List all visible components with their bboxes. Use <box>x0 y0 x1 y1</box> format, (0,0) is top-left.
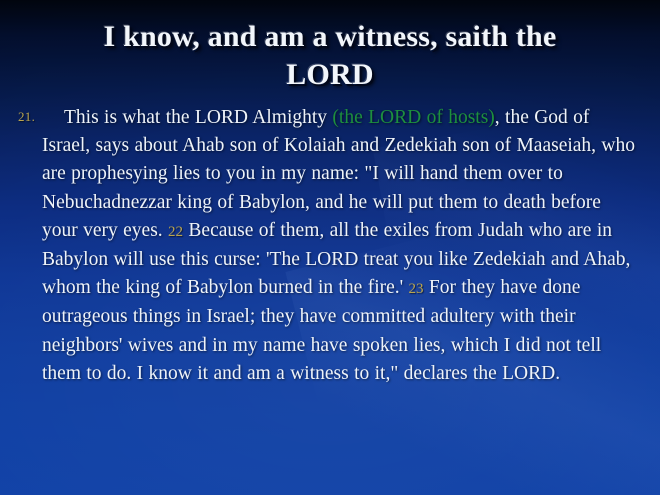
verse-bullet-row: 21. This is what the LORD Almighty (the … <box>18 104 642 388</box>
verse-number-inline-22: 22 <box>168 224 183 240</box>
slide-title: I know, and am a witness, saith the LORD <box>30 18 630 94</box>
verse-body-text: This is what the LORD Almighty (the LORD… <box>42 104 642 388</box>
slide-title-text: I know, and am a witness, saith the LORD <box>30 18 630 94</box>
slide-body: 21. This is what the LORD Almighty (the … <box>18 104 642 388</box>
verse-text-run-1: This is what the LORD Almighty <box>64 107 332 128</box>
verse-number-inline-23: 23 <box>409 281 424 297</box>
presentation-slide: I know, and am a witness, saith the LORD… <box>0 0 660 495</box>
verse-gloss-lord-of-hosts: (the LORD of hosts) <box>332 107 494 128</box>
verse-marker-21: 21. <box>18 109 35 125</box>
